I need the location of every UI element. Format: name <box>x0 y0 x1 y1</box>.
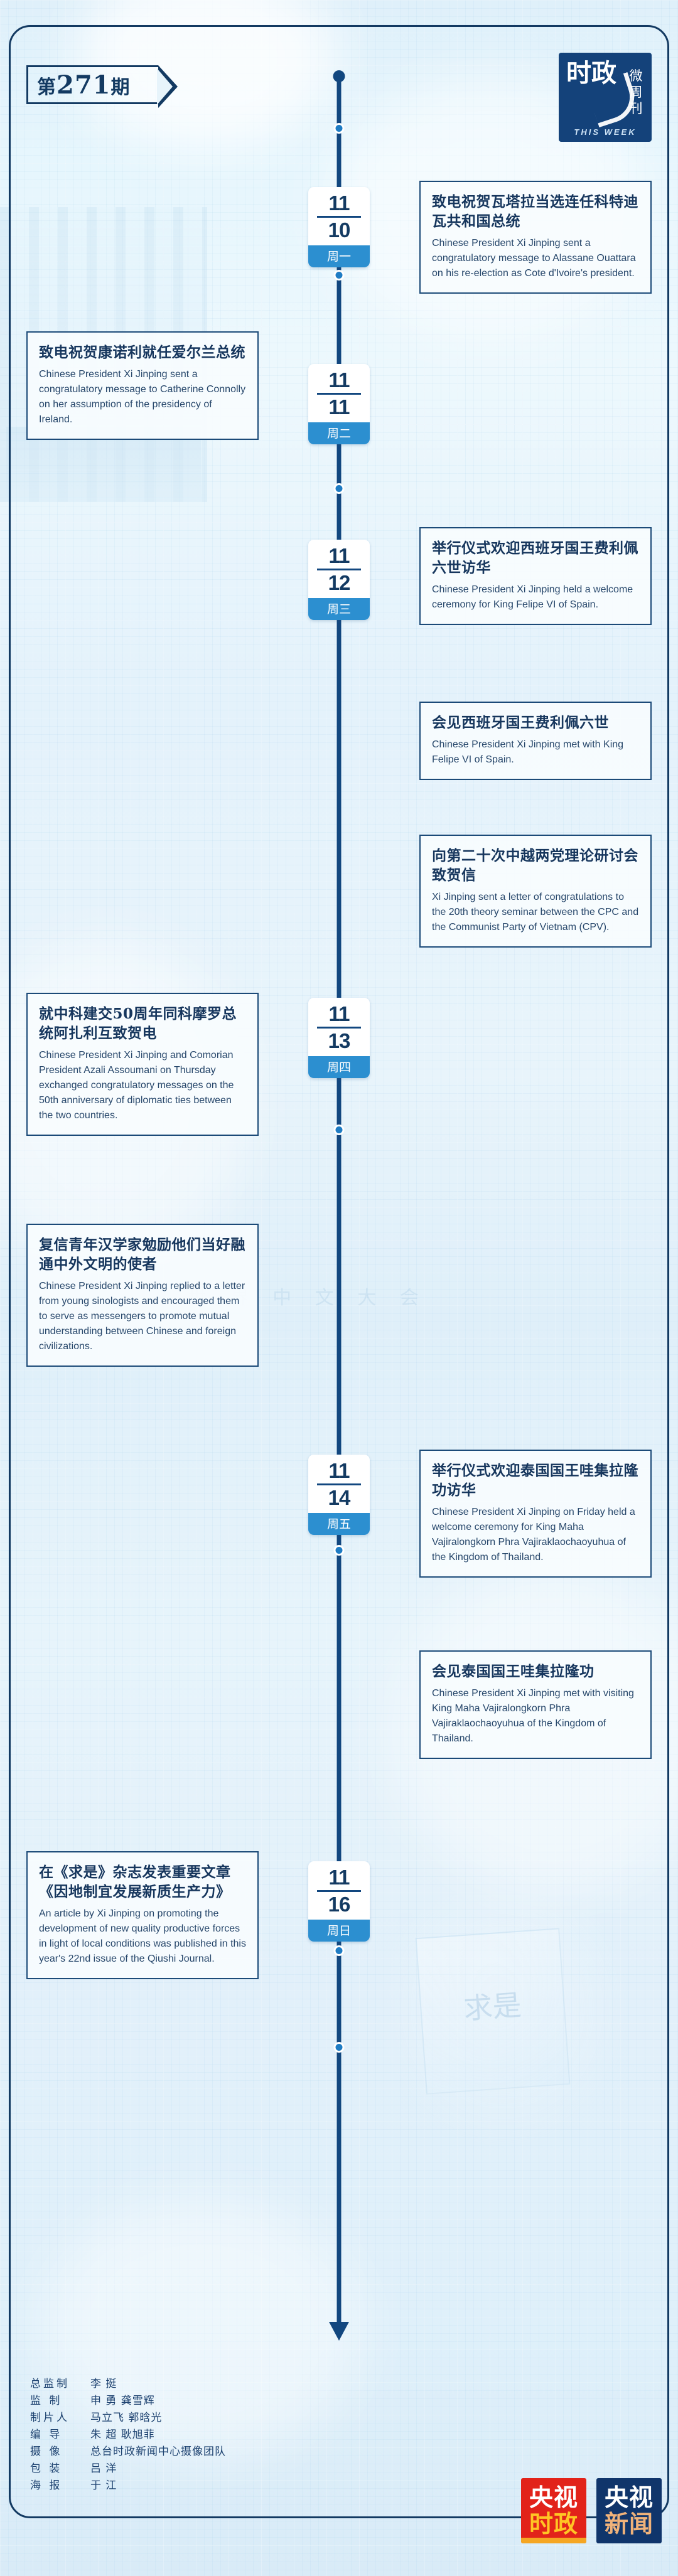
timeline-card[interactable]: 就中科建交50周年同科摩罗总统阿扎利互致贺电 Chinese President… <box>26 993 259 1136</box>
credit-value: 马立飞 郭晗光 <box>90 2410 162 2427</box>
issue-suffix: 期 <box>111 77 131 99</box>
date-month: 11 <box>308 1460 370 1482</box>
date-separator <box>317 1483 361 1485</box>
card-title-cn: 举行仪式欢迎西班牙国王费利佩六世访华 <box>432 538 639 577</box>
credit-row: 摄 像 总台时政新闻中心摄像团队 <box>30 2444 226 2461</box>
credits-block: 总监制 李 挺 监 制 申 勇 龚雪辉 制片人 马立飞 郭晗光 编 导 朱 超 … <box>30 2376 226 2494</box>
date-badge-1112: 11 12 周三 <box>308 540 370 620</box>
card-title-cn: 会见西班牙国王费利佩六世 <box>432 713 639 732</box>
timeline-card[interactable]: 向第二十次中越两党理论研讨会致贺信 Xi Jinping sent a lett… <box>419 835 652 948</box>
logo-line-1: 央视 <box>605 2484 654 2511</box>
credit-label: 制片人 <box>30 2410 90 2427</box>
timeline-start-dot <box>333 70 345 82</box>
cctv-news-logo[interactable]: 央视 新闻 <box>596 2478 662 2543</box>
card-title-cn: 会见泰国国王哇集拉隆功 <box>432 1662 639 1681</box>
date-weekday: 周一 <box>308 245 370 267</box>
date-weekday: 周日 <box>308 1920 370 1942</box>
date-badge-1111: 11 11 周二 <box>308 364 370 444</box>
credit-label: 包 装 <box>30 2461 90 2477</box>
card-text-en: Chinese President Xi Jinping met with vi… <box>432 1686 639 1746</box>
timeline-node-dot <box>334 1545 345 1556</box>
card-text-en: Chinese President Xi Jinping met with Ki… <box>432 737 639 767</box>
date-separator <box>317 1027 361 1029</box>
card-text-en: An article by Xi Jinping on promoting th… <box>39 1906 246 1967</box>
date-separator <box>317 216 361 218</box>
date-day: 11 <box>308 396 370 419</box>
logo-line-1: 央视 <box>529 2484 578 2511</box>
credit-label: 海 报 <box>30 2477 90 2494</box>
credit-row: 制片人 马立飞 郭晗光 <box>30 2410 226 2427</box>
card-text-en: Chinese President Xi Jinping and Comoria… <box>39 1048 246 1123</box>
timeline-node-dot <box>334 2042 345 2053</box>
credit-label: 总监制 <box>30 2376 90 2393</box>
timeline-node-dot <box>334 1945 345 1956</box>
date-separator <box>317 569 361 570</box>
issue-prefix: 第 <box>37 77 56 99</box>
date-month: 11 <box>308 369 370 392</box>
timeline-node-dot <box>334 270 345 281</box>
timeline-card[interactable]: 举行仪式欢迎西班牙国王费利佩六世访华 Chinese President Xi … <box>419 527 652 625</box>
card-title-cn: 在《求是》杂志发表重要文章《因地制宜发展新质生产力》 <box>39 1863 246 1901</box>
card-title-cn: 致电祝贺瓦塔拉当选连任科特迪瓦共和国总统 <box>432 192 639 231</box>
card-title-cn: 致电祝贺康诺利就任爱尔兰总统 <box>39 343 246 362</box>
credit-label: 摄 像 <box>30 2444 90 2461</box>
brand-logo: 时政 微周刊 THIS WEEK <box>559 53 652 142</box>
card-text-en: Xi Jinping sent a letter of congratulati… <box>432 890 639 935</box>
card-title-cn: 就中科建交50周年同科摩罗总统阿扎利互致贺电 <box>39 1004 246 1043</box>
card-text-en: Chinese President Xi Jinping sent a cong… <box>39 367 246 427</box>
credit-row: 总监制 李 挺 <box>30 2376 226 2393</box>
date-month: 11 <box>308 1866 370 1889</box>
date-weekday: 周四 <box>308 1056 370 1078</box>
card-title-cn: 复信青年汉学家勉励他们当好融通中外文明的使者 <box>39 1235 246 1274</box>
credit-value: 吕 洋 <box>90 2461 117 2477</box>
credit-value: 总台时政新闻中心摄像团队 <box>90 2444 226 2461</box>
date-month: 11 <box>308 192 370 215</box>
issue-badge: 第271期 <box>26 65 158 104</box>
timeline-card[interactable]: 会见泰国国王哇集拉隆功 Chinese President Xi Jinping… <box>419 1650 652 1759</box>
date-day: 14 <box>308 1487 370 1509</box>
date-separator <box>317 1890 361 1892</box>
date-day: 16 <box>308 1893 370 1916</box>
credit-label: 监 制 <box>30 2393 90 2410</box>
credit-value: 李 挺 <box>90 2376 117 2393</box>
brand-logo-side-text: 微周刊 <box>628 68 644 117</box>
card-text-en: Chinese President Xi Jinping sent a cong… <box>432 236 639 281</box>
date-weekday: 周五 <box>308 1513 370 1535</box>
brand-logo-english: THIS WEEK <box>559 127 652 137</box>
timeline-arrow-icon <box>329 2322 349 2341</box>
timeline-card[interactable]: 致电祝贺康诺利就任爱尔兰总统 Chinese President Xi Jinp… <box>26 331 259 440</box>
timeline-card[interactable]: 举行仪式欢迎泰国国王哇集拉隆功访华 Chinese President Xi J… <box>419 1450 652 1578</box>
issue-label: 第271期 <box>37 70 131 100</box>
date-badge-1116: 11 16 周日 <box>308 1861 370 1942</box>
timeline-node-dot <box>334 123 345 134</box>
date-badge-1110: 11 10 周一 <box>308 187 370 267</box>
timeline-card[interactable]: 致电祝贺瓦塔拉当选连任科特迪瓦共和国总统 Chinese President X… <box>419 181 652 294</box>
date-month: 11 <box>308 545 370 567</box>
cctv-politics-logo[interactable]: 央视 时政 <box>521 2478 586 2543</box>
date-month: 11 <box>308 1003 370 1025</box>
credit-row: 编 导 朱 超 耿旭菲 <box>30 2427 226 2444</box>
timeline-card[interactable]: 复信青年汉学家勉励他们当好融通中外文明的使者 Chinese President… <box>26 1224 259 1367</box>
card-text-en: Chinese President Xi Jinping replied to … <box>39 1279 246 1354</box>
timeline-node-dot <box>334 1125 345 1135</box>
timeline-card[interactable]: 会见西班牙国王费利佩六世 Chinese President Xi Jinpin… <box>419 702 652 780</box>
date-badge-1113: 11 13 周四 <box>308 998 370 1078</box>
date-day: 10 <box>308 219 370 242</box>
date-weekday: 周三 <box>308 598 370 620</box>
credit-row: 包 装 吕 洋 <box>30 2461 226 2477</box>
credit-row: 监 制 申 勇 龚雪辉 <box>30 2393 226 2410</box>
date-day: 12 <box>308 572 370 594</box>
timeline-card[interactable]: 在《求是》杂志发表重要文章《因地制宜发展新质生产力》 An article by… <box>26 1851 259 1979</box>
credit-row: 海 报 于 江 <box>30 2477 226 2494</box>
credit-value: 申 勇 龚雪辉 <box>90 2393 155 2410</box>
credit-value: 朱 超 耿旭菲 <box>90 2427 155 2444</box>
card-title-cn: 举行仪式欢迎泰国国王哇集拉隆功访华 <box>432 1461 639 1500</box>
logo-line-2: 新闻 <box>605 2511 654 2537</box>
date-separator <box>317 393 361 395</box>
issue-number: 271 <box>56 70 111 100</box>
card-text-en: Chinese President Xi Jinping held a welc… <box>432 582 639 612</box>
credit-label: 编 导 <box>30 2427 90 2444</box>
card-title-cn: 向第二十次中越两党理论研讨会致贺信 <box>432 846 639 885</box>
timeline-node-dot <box>334 483 345 494</box>
date-badge-1114: 11 14 周五 <box>308 1455 370 1535</box>
footer-logos: 央视 时政 央视 新闻 <box>521 2478 662 2543</box>
logo-line-2: 时政 <box>529 2511 578 2537</box>
credit-value: 于 江 <box>90 2477 117 2494</box>
date-weekday: 周二 <box>308 422 370 444</box>
card-text-en: Chinese President Xi Jinping on Friday h… <box>432 1505 639 1565</box>
date-day: 13 <box>308 1030 370 1052</box>
